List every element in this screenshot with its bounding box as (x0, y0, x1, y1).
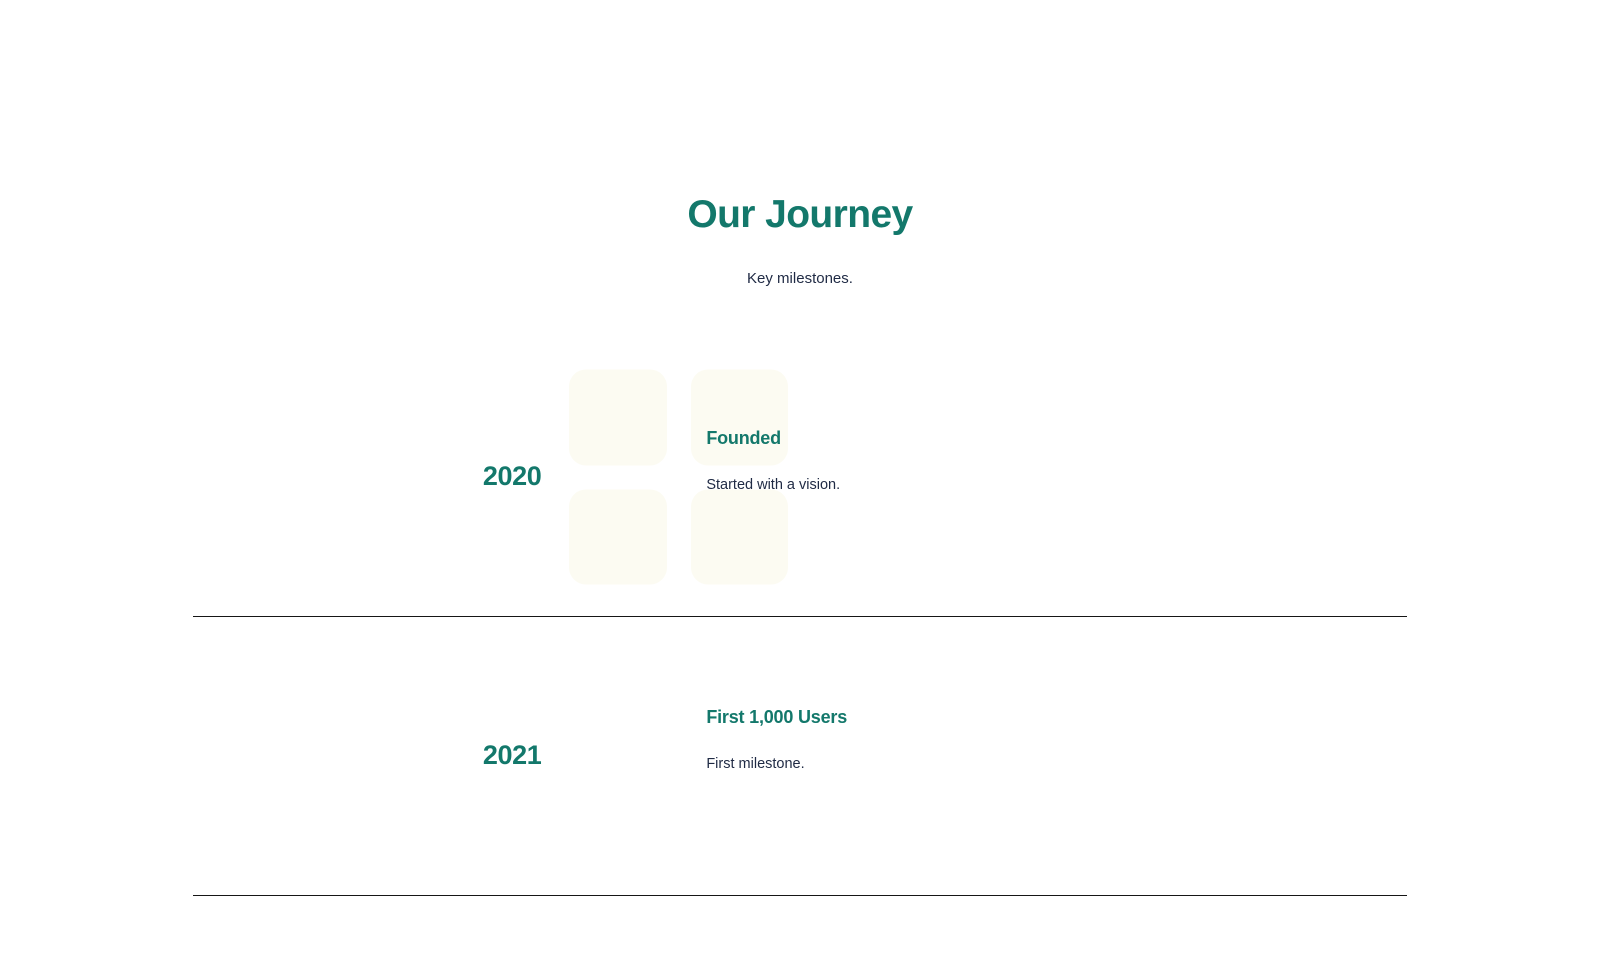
timeline-year-column: 2020 (193, 462, 569, 492)
page-subtitle: Key milestones. (0, 268, 1600, 289)
timeline-row: 2021 First 1,000 Users First milestone. (193, 617, 1407, 896)
media-placeholder-tile (569, 489, 667, 585)
timeline-year-label: 2020 (483, 462, 541, 492)
media-placeholder-tile (569, 370, 667, 466)
timeline-milestone-text: Started with a vision. (706, 475, 1407, 496)
timeline-section: 2020 Founded Started with a vision. 2021… (193, 338, 1407, 896)
timeline-row: 2020 Founded Started with a vision. (193, 338, 1407, 617)
timeline-milestone-heading: First 1,000 Users (706, 706, 1407, 729)
timeline-milestone-heading: Founded (706, 427, 1407, 450)
page-root: Our Journey Key milestones. 2020 Founded… (0, 0, 1600, 978)
media-placeholder-tile (691, 489, 789, 585)
timeline-content-column: First 1,000 Users First milestone. (569, 706, 1407, 806)
timeline-year-label: 2021 (483, 741, 541, 771)
page-header: Our Journey Key milestones. (0, 0, 1600, 289)
timeline-content-column: Founded Started with a vision. (569, 427, 1407, 527)
timeline-milestone-text: First milestone. (706, 754, 1407, 775)
page-title: Our Journey (0, 193, 1600, 238)
timeline-year-column: 2021 (193, 741, 569, 771)
media-placeholder-tile (691, 370, 789, 466)
